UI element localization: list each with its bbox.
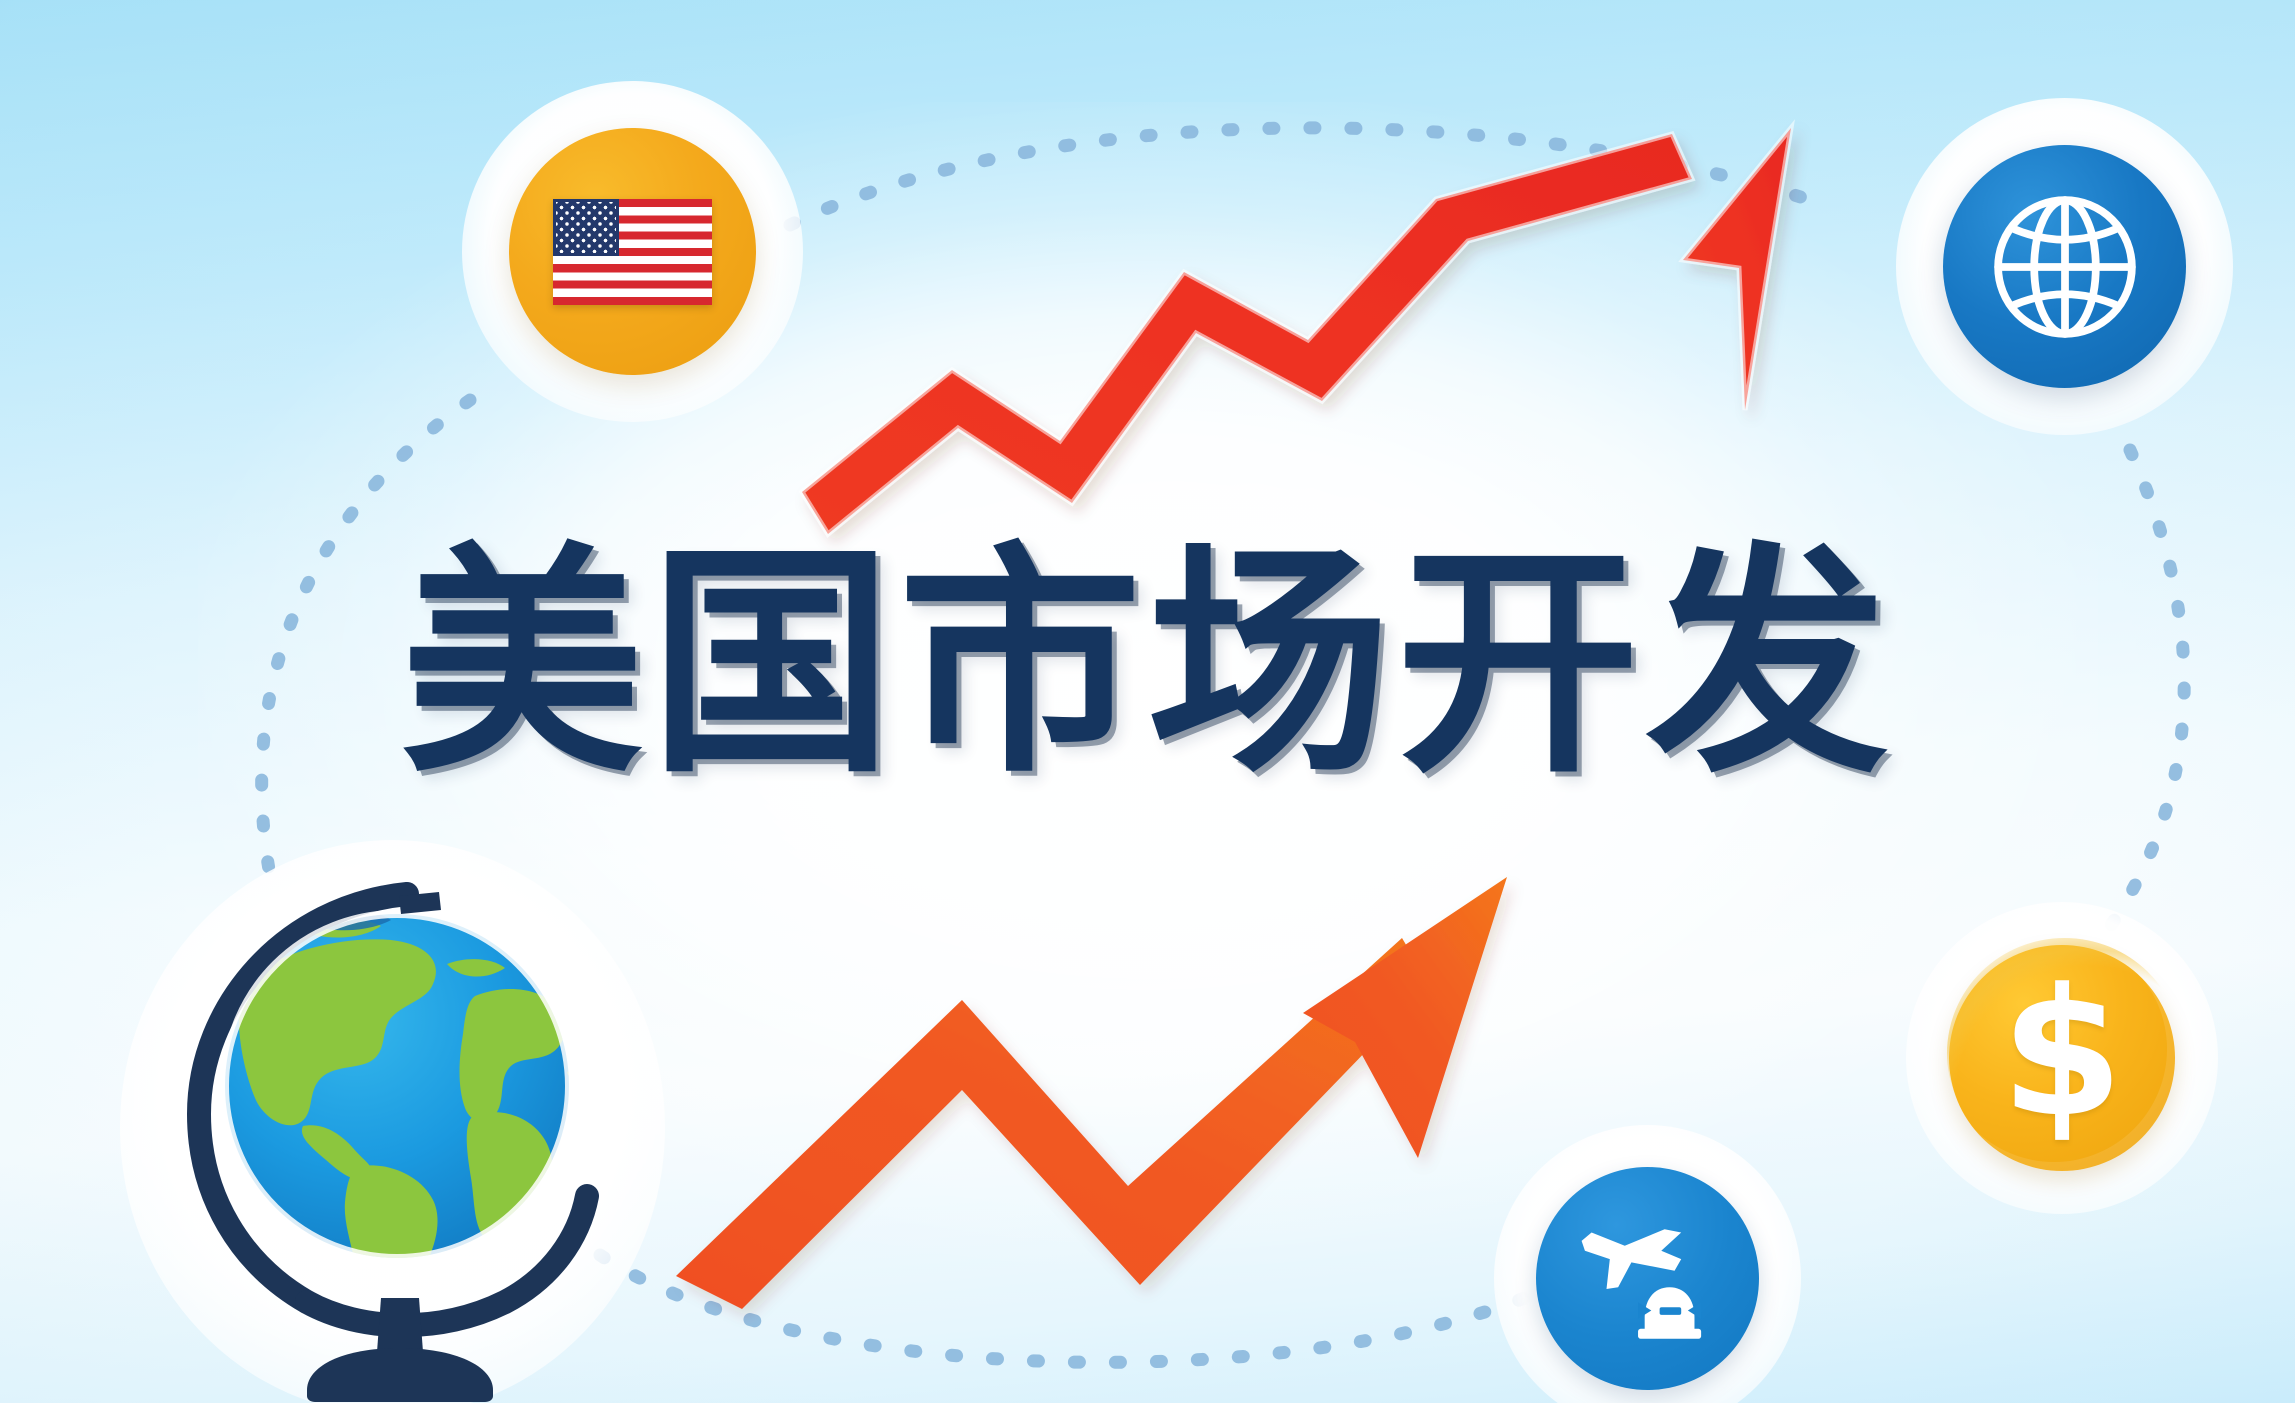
global-network-badge[interactable] — [1943, 145, 2186, 388]
us-flag-badge[interactable] — [509, 128, 756, 375]
poster-canvas: 美国市场开发 $ — [0, 0, 2295, 1403]
dollar-coin-icon: $ — [2001, 966, 2123, 1142]
globe-stand-base — [307, 1348, 493, 1402]
page-title: 美国市场开发 — [400, 543, 1894, 786]
logistics-badge[interactable] — [1536, 1167, 1759, 1390]
airplane-icon — [1581, 1229, 1681, 1289]
flag-stars — [556, 202, 616, 253]
dollar-coin-badge[interactable]: $ — [1949, 945, 2175, 1171]
flag-canton — [553, 199, 619, 256]
desk-globe-icon[interactable] — [175, 866, 605, 1403]
poster-title-wrap: 美国市场开发 — [0, 543, 2295, 786]
us-flag-icon — [553, 199, 712, 305]
orange-arrow-shaft — [676, 938, 1430, 1309]
orange-arrow-head — [1303, 877, 1507, 1158]
truck-icon — [1638, 1287, 1701, 1338]
airplane-truck-icon — [1565, 1196, 1731, 1362]
globe-stand-stem — [377, 1298, 423, 1352]
globe-grid-icon — [1977, 179, 2153, 355]
